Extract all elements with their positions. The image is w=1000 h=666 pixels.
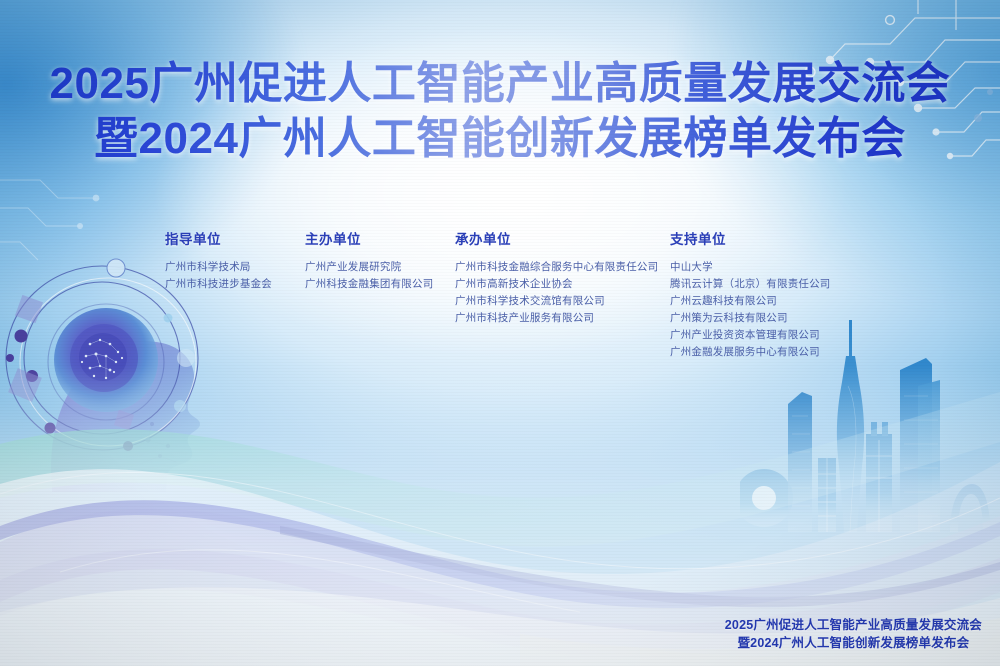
poster-backdrop: 2025广州促进人工智能产业高质量发展交流会 暨2024广州人工智能创新发展榜单… (0, 0, 1000, 666)
vignette-overlay (0, 0, 1000, 666)
